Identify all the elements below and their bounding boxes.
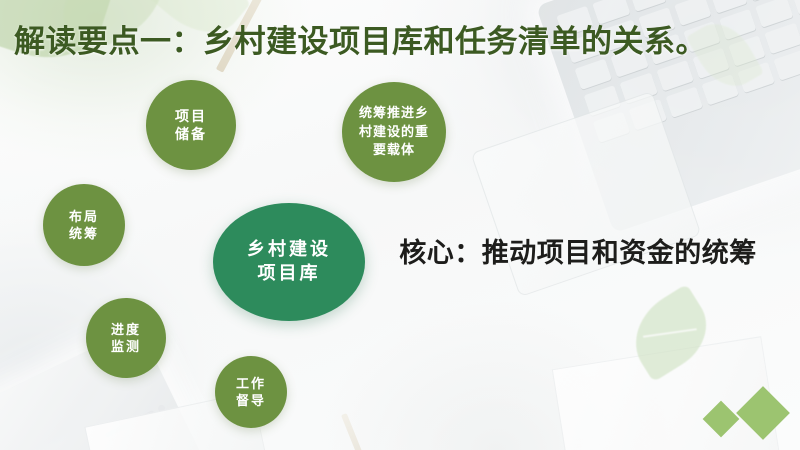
core-statement-text: 核心：推动项目和资金的统筹 [396,234,760,272]
pencil-image-bottom [341,413,369,450]
bubble-progress-monitoring[interactable]: 进度 监测 [86,298,166,378]
bubble-project-reserve[interactable]: 项目 储备 [146,80,236,170]
page-title: 解读要点一：乡村建设项目库和任务清单的关系。 [14,16,707,61]
slide-canvas: 解读要点一：乡村建设项目库和任务清单的关系。 项目 储备 统筹推进乡 村建设的重… [0,0,800,450]
bubble-layout-coordination[interactable]: 布局 统筹 [43,184,125,266]
bubble-work-supervision[interactable]: 工作 督导 [215,356,287,428]
bubble-important-carrier[interactable]: 统筹推进乡 村建设的重 要载体 [342,82,446,182]
bubble-center-project-library[interactable]: 乡村建设 项目库 [213,203,365,321]
